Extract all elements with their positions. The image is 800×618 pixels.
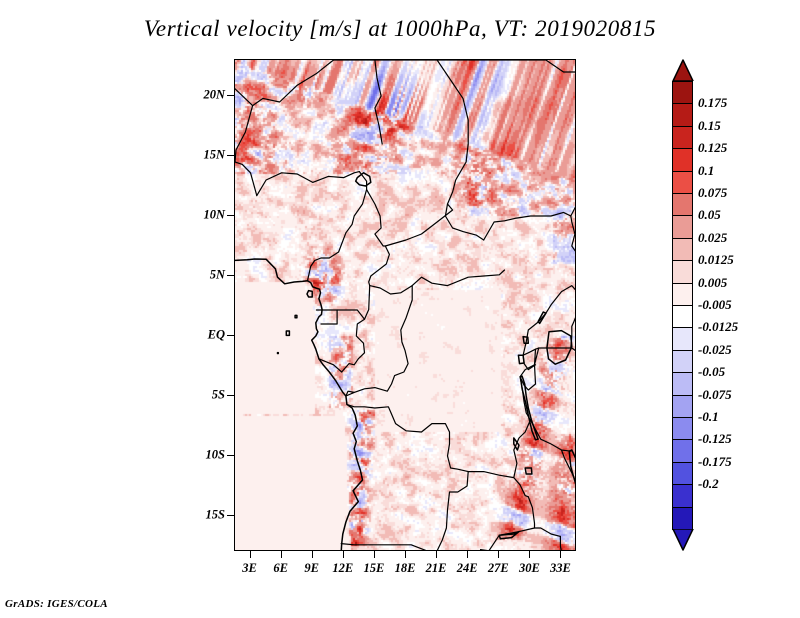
colorbar-band — [672, 417, 693, 441]
lon-tick-label: 6E — [273, 561, 288, 576]
lon-tick-label: 33E — [550, 561, 571, 576]
lon-tick-label: 27E — [488, 561, 509, 576]
colorbar-band — [672, 350, 693, 374]
colorbar-band — [672, 193, 693, 217]
lat-tick-label: EQ — [208, 328, 225, 343]
colorbar-band — [672, 215, 693, 239]
lat-tick — [227, 95, 234, 96]
lon-tick — [405, 551, 406, 558]
map-frame — [234, 59, 576, 551]
colorbar-band — [672, 507, 693, 531]
lat-tick-label: 5S — [212, 388, 225, 403]
lat-tick — [227, 155, 234, 156]
colorbar-band — [672, 126, 693, 150]
lat-tick-label: 10N — [203, 208, 225, 223]
lat-tick — [227, 455, 234, 456]
colorbar-band — [672, 260, 693, 284]
colorbar-lower-cap — [672, 529, 694, 551]
lon-tick — [467, 551, 468, 558]
colorbar-label: -0.0125 — [698, 319, 738, 335]
lon-tick-label: 30E — [519, 561, 540, 576]
lon-tick — [529, 551, 530, 558]
lat-tick — [227, 515, 234, 516]
colorbar-band — [672, 395, 693, 419]
lon-tick — [374, 551, 375, 558]
lon-tick-label: 18E — [395, 561, 416, 576]
colorbar-band — [672, 238, 693, 262]
lon-tick — [312, 551, 313, 558]
colorbar-label: -0.05 — [698, 364, 725, 380]
lon-tick — [250, 551, 251, 558]
country-borders — [235, 60, 576, 551]
colorbar-label: -0.005 — [698, 297, 732, 313]
colorbar-band — [672, 305, 693, 329]
colorbar-band — [672, 171, 693, 195]
colorbar-band — [672, 327, 693, 351]
colorbar: 0.1750.150.1250.10.0750.050.0250.01250.0… — [672, 59, 693, 552]
lon-tick — [498, 551, 499, 558]
lat-tick-label: 5N — [210, 268, 225, 283]
colorbar-band — [672, 372, 693, 396]
colorbar-band — [672, 439, 693, 463]
lat-tick-label: 20N — [203, 88, 225, 103]
colorbar-label: -0.025 — [698, 342, 732, 358]
colorbar-label: 0.1 — [698, 163, 714, 179]
lon-tick-label: 21E — [426, 561, 447, 576]
grads-credit: GrADS: IGES/COLA — [5, 598, 108, 610]
colorbar-label: 0.005 — [698, 275, 727, 291]
lat-tick-label: 15S — [206, 508, 225, 523]
lon-tick-label: 3E — [242, 561, 257, 576]
lon-tick-label: 9E — [304, 561, 319, 576]
lat-tick-label: 10S — [206, 448, 225, 463]
lon-tick — [343, 551, 344, 558]
lon-tick — [281, 551, 282, 558]
lat-tick — [227, 395, 234, 396]
colorbar-band — [672, 81, 693, 105]
lat-tick — [227, 275, 234, 276]
lon-tick — [560, 551, 561, 558]
colorbar-label: -0.175 — [698, 454, 732, 470]
colorbar-label: 0.025 — [698, 230, 727, 246]
lat-tick — [227, 215, 234, 216]
colorbar-band — [672, 283, 693, 307]
lon-tick — [436, 551, 437, 558]
lon-tick-label: 24E — [457, 561, 478, 576]
colorbar-band — [672, 103, 693, 127]
lat-tick — [227, 335, 234, 336]
colorbar-band — [672, 148, 693, 172]
colorbar-band — [672, 484, 693, 508]
lon-tick-label: 12E — [332, 561, 353, 576]
colorbar-label: 0.075 — [698, 185, 727, 201]
colorbar-label: -0.075 — [698, 387, 732, 403]
colorbar-upper-cap — [672, 59, 694, 81]
colorbar-band — [672, 462, 693, 486]
colorbar-label: 0.125 — [698, 140, 727, 156]
colorbar-label: -0.125 — [698, 431, 732, 447]
colorbar-label: 0.0125 — [698, 252, 734, 268]
colorbar-label: -0.2 — [698, 476, 719, 492]
lat-tick-label: 15N — [203, 148, 225, 163]
colorbar-label: -0.1 — [698, 409, 719, 425]
lon-tick-label: 15E — [363, 561, 384, 576]
colorbar-label: 0.05 — [698, 207, 721, 223]
colorbar-label: 0.175 — [698, 95, 727, 111]
colorbar-label: 0.15 — [698, 118, 721, 134]
map-plot-area: 20N15N10N5NEQ5S10S15S 3E6E9E12E15E18E21E… — [234, 59, 576, 551]
page-title: Vertical velocity [m/s] at 1000hPa, VT: … — [0, 16, 800, 42]
